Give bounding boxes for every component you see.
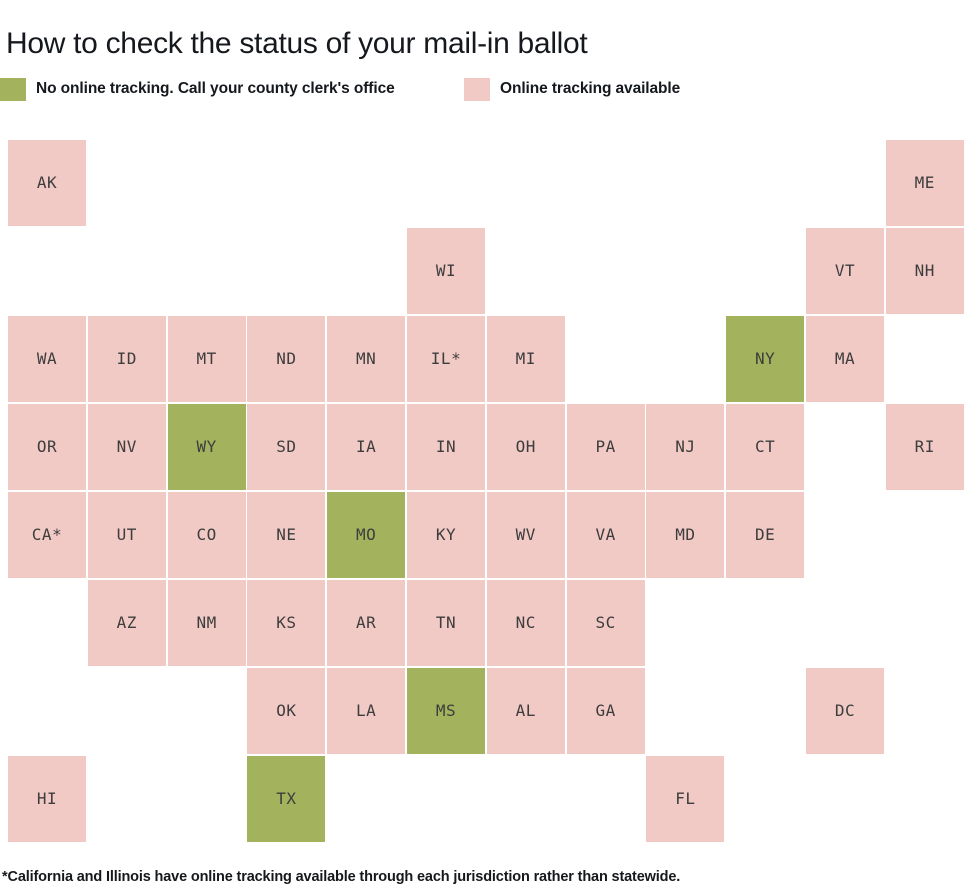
state-cell-mn[interactable]: MN <box>327 316 405 402</box>
state-cell-sc[interactable]: SC <box>567 580 645 666</box>
state-label: NM <box>196 615 216 631</box>
state-label: NC <box>516 615 536 631</box>
state-cell-ut[interactable]: UT <box>88 492 166 578</box>
state-cell-fl[interactable]: FL <box>646 756 724 842</box>
state-label: WI <box>436 263 456 279</box>
state-cell-ga[interactable]: GA <box>567 668 645 754</box>
state-cell-ma[interactable]: MA <box>806 316 884 402</box>
state-cell-la[interactable]: LA <box>327 668 405 754</box>
state-cell-ks[interactable]: KS <box>247 580 325 666</box>
state-label: RI <box>915 439 935 455</box>
state-label: DE <box>755 527 775 543</box>
state-cell-dc[interactable]: DC <box>806 668 884 754</box>
state-label: WA <box>37 351 57 367</box>
state-cell-az[interactable]: AZ <box>88 580 166 666</box>
state-cell-ri[interactable]: RI <box>886 404 964 490</box>
state-label: CO <box>196 527 216 543</box>
state-label: MA <box>835 351 855 367</box>
state-cell-ca[interactable]: CA* <box>8 492 86 578</box>
state-cell-ok[interactable]: OK <box>247 668 325 754</box>
state-label: AL <box>516 703 536 719</box>
state-cell-de[interactable]: DE <box>726 492 804 578</box>
state-label: MS <box>436 703 456 719</box>
state-label: MI <box>516 351 536 367</box>
state-label: KY <box>436 527 456 543</box>
state-label: OH <box>516 439 536 455</box>
state-label: KS <box>276 615 296 631</box>
state-cell-nm[interactable]: NM <box>168 580 246 666</box>
state-label: NH <box>915 263 935 279</box>
state-cell-hi[interactable]: HI <box>8 756 86 842</box>
state-cell-ne[interactable]: NE <box>247 492 325 578</box>
state-label: VT <box>835 263 855 279</box>
state-cell-pa[interactable]: PA <box>567 404 645 490</box>
state-label: OR <box>37 439 57 455</box>
state-cell-nc[interactable]: NC <box>487 580 565 666</box>
state-label: HI <box>37 791 57 807</box>
state-cell-md[interactable]: MD <box>646 492 724 578</box>
state-label: SC <box>595 615 615 631</box>
state-cell-wy[interactable]: WY <box>168 404 246 490</box>
state-label: TN <box>436 615 456 631</box>
footnote: *California and Illinois have online tra… <box>2 869 680 885</box>
state-label: SD <box>276 439 296 455</box>
state-label: AR <box>356 615 376 631</box>
state-label: MN <box>356 351 376 367</box>
state-label: IA <box>356 439 376 455</box>
state-label: NY <box>755 351 775 367</box>
state-label: ID <box>117 351 137 367</box>
state-cell-al[interactable]: AL <box>487 668 565 754</box>
mail-in-ballot-cartogram-page: How to check the status of your mail-in … <box>0 0 980 892</box>
state-cell-ar[interactable]: AR <box>327 580 405 666</box>
state-label: OK <box>276 703 296 719</box>
state-label: GA <box>595 703 615 719</box>
state-cell-nv[interactable]: NV <box>88 404 166 490</box>
state-cell-ia[interactable]: IA <box>327 404 405 490</box>
state-cell-wa[interactable]: WA <box>8 316 86 402</box>
state-cell-wv[interactable]: WV <box>487 492 565 578</box>
state-cell-tn[interactable]: TN <box>407 580 485 666</box>
state-label: MD <box>675 527 695 543</box>
state-cell-mt[interactable]: MT <box>168 316 246 402</box>
state-label: PA <box>595 439 615 455</box>
state-label: UT <box>117 527 137 543</box>
state-cell-tx[interactable]: TX <box>247 756 325 842</box>
state-label: NV <box>117 439 137 455</box>
state-cell-sd[interactable]: SD <box>247 404 325 490</box>
state-label: ME <box>915 175 935 191</box>
state-label: MO <box>356 527 376 543</box>
state-label: IL* <box>431 351 461 367</box>
state-label: VA <box>595 527 615 543</box>
state-cell-mo[interactable]: MO <box>327 492 405 578</box>
state-cell-vt[interactable]: VT <box>806 228 884 314</box>
state-label: IN <box>436 439 456 455</box>
state-label: TX <box>276 791 296 807</box>
state-label: CA* <box>32 527 62 543</box>
state-cell-il[interactable]: IL* <box>407 316 485 402</box>
state-label: AK <box>37 175 57 191</box>
state-cell-ms[interactable]: MS <box>407 668 485 754</box>
state-cell-nd[interactable]: ND <box>247 316 325 402</box>
state-cell-ak[interactable]: AK <box>8 140 86 226</box>
state-cell-or[interactable]: OR <box>8 404 86 490</box>
state-label: CT <box>755 439 775 455</box>
state-cell-ny[interactable]: NY <box>726 316 804 402</box>
state-cell-co[interactable]: CO <box>168 492 246 578</box>
state-label: AZ <box>117 615 137 631</box>
state-label: WY <box>196 439 216 455</box>
state-label: MT <box>196 351 216 367</box>
state-cell-id[interactable]: ID <box>88 316 166 402</box>
state-cell-me[interactable]: ME <box>886 140 964 226</box>
state-label: DC <box>835 703 855 719</box>
state-label: ND <box>276 351 296 367</box>
state-cell-ct[interactable]: CT <box>726 404 804 490</box>
state-cell-oh[interactable]: OH <box>487 404 565 490</box>
state-label: WV <box>516 527 536 543</box>
state-cell-mi[interactable]: MI <box>487 316 565 402</box>
state-label: NJ <box>675 439 695 455</box>
state-label: FL <box>675 791 695 807</box>
state-cell-nj[interactable]: NJ <box>646 404 724 490</box>
state-label: NE <box>276 527 296 543</box>
state-cell-in[interactable]: IN <box>407 404 485 490</box>
state-label: LA <box>356 703 376 719</box>
state-cell-wi[interactable]: WI <box>407 228 485 314</box>
state-cell-ky[interactable]: KY <box>407 492 485 578</box>
state-cell-va[interactable]: VA <box>567 492 645 578</box>
state-grid-cartogram: AKMEWIVTNHWAIDMTNDMNIL*MINYMAORNVWYSDIAI… <box>0 0 980 892</box>
state-cell-nh[interactable]: NH <box>886 228 964 314</box>
